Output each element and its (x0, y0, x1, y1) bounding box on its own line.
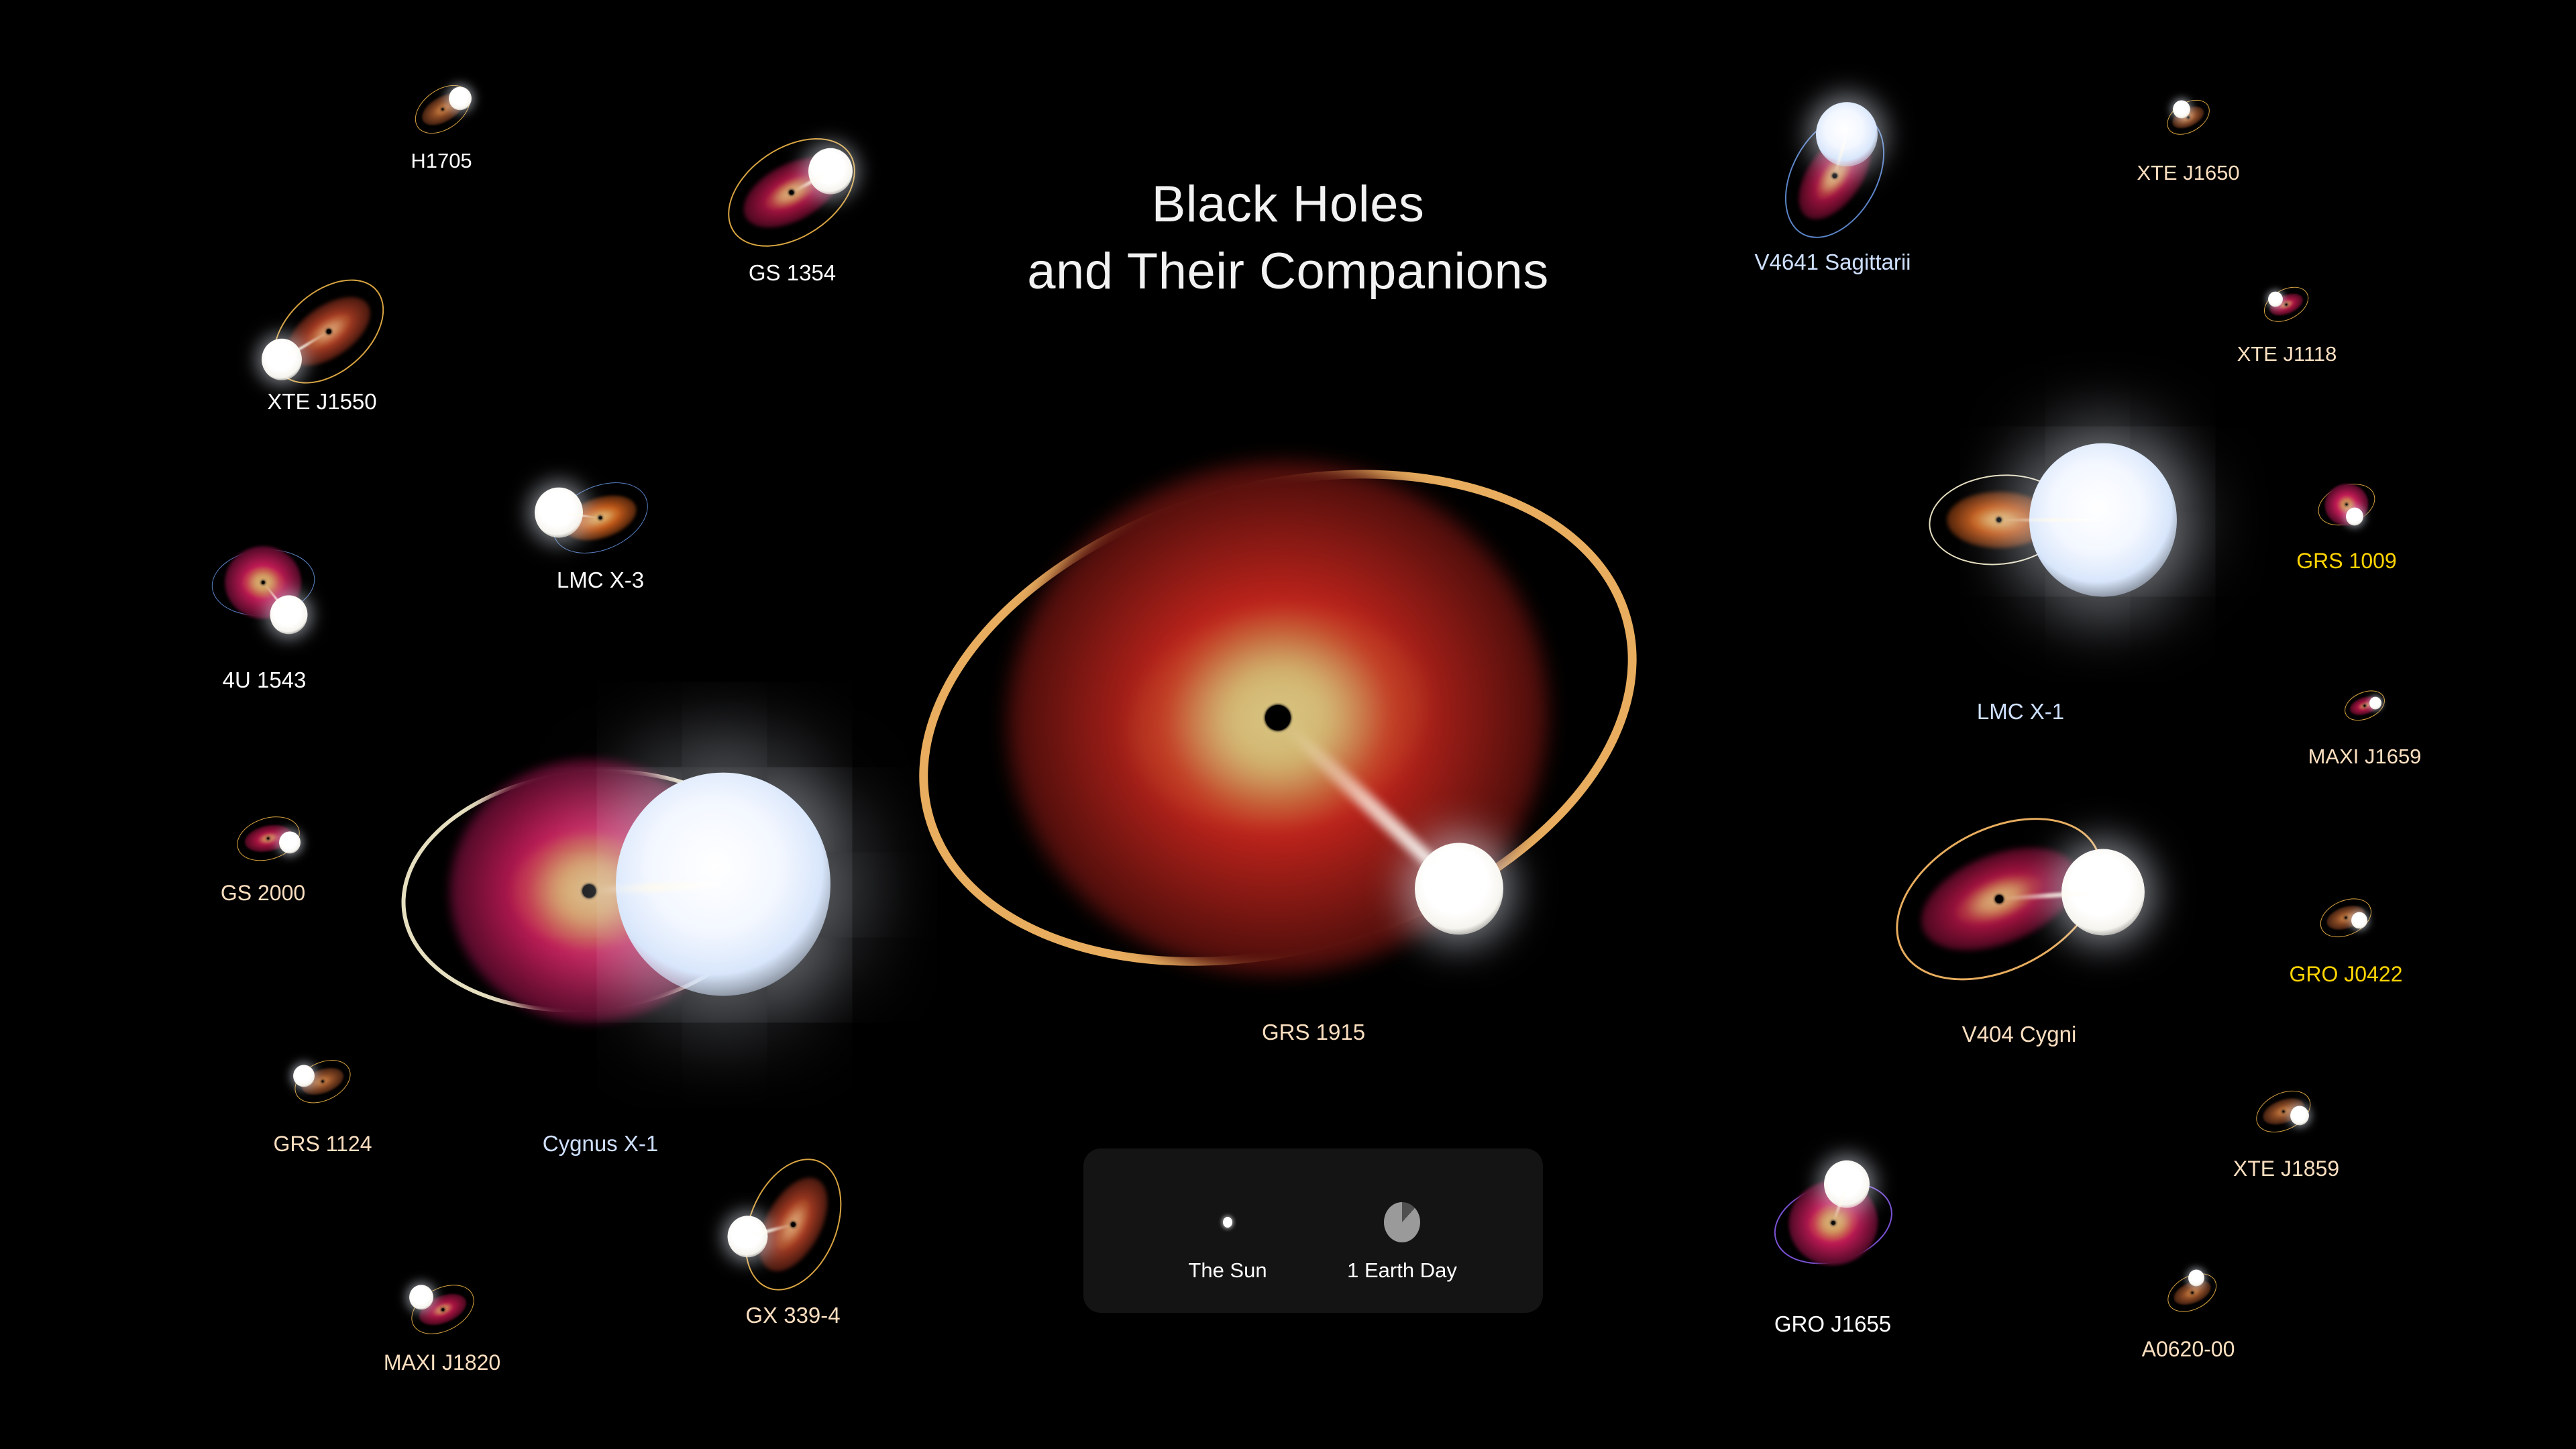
system-cygnus-x-1[interactable] (401, 703, 777, 1079)
system-label-v4641-sagittarii: V4641 Sagittarii (1755, 250, 1911, 275)
system-maxi-j1659[interactable] (2344, 685, 2385, 727)
system-grs-1915[interactable] (912, 352, 1644, 1083)
system-label-gx-339-4: GX 339-4 (745, 1303, 840, 1328)
system-label-xte-j1859: XTE J1859 (2233, 1157, 2339, 1181)
companion-star (2346, 507, 2363, 525)
system-xte-j1859[interactable] (2255, 1083, 2312, 1140)
system-gs-1354[interactable] (721, 122, 862, 263)
system-label-gs-1354: GS 1354 (749, 260, 836, 286)
companion-star (2290, 1106, 2309, 1125)
system-a0620-00[interactable] (2166, 1267, 2218, 1319)
companion-star (2351, 912, 2367, 929)
system-label-a0620-00: A0620-00 (2142, 1337, 2235, 1362)
legend-label-earth-day: 1 Earth Day (1347, 1258, 1457, 1283)
system-label-cygnus-x-1: Cygnus X-1 (543, 1131, 658, 1157)
black-hole (2283, 1111, 2285, 1113)
black-hole-infographic-canvas: Black Holes and Their Companions H1705GS… (0, 0, 2576, 1449)
system-label-xte-j1550: XTE J1550 (267, 389, 376, 415)
black-hole (2364, 705, 2366, 707)
system-label-v404-cygni: V404 Cygni (1962, 1022, 2077, 1047)
legend-item-sun: The Sun (1154, 1148, 1301, 1313)
companion-star (2188, 1270, 2204, 1287)
system-label-gro-j0422: GRO J0422 (2290, 962, 2403, 987)
system-label-gro-j1655: GRO J1655 (1774, 1311, 1891, 1337)
system-label-xte-j1650: XTE J1650 (2137, 161, 2239, 185)
system-v4641-sagittarii[interactable] (1768, 109, 1902, 243)
system-4u-1543[interactable] (211, 531, 315, 635)
black-hole (2286, 304, 2288, 306)
system-label-grs-1009: GRS 1009 (2296, 549, 2396, 574)
system-v404-cygni[interactable] (1888, 788, 2110, 1010)
system-label-grs-1915: GRS 1915 (1262, 1020, 1365, 1045)
companion-star (2268, 292, 2283, 307)
system-grs-1009[interactable] (2317, 475, 2376, 534)
system-lmc-x-1[interactable] (1929, 449, 2070, 590)
sun-dot-icon (1223, 1217, 1232, 1228)
companion-star (2369, 697, 2381, 710)
system-label-maxi-j1659: MAXI J1659 (2308, 745, 2422, 769)
system-gro-j0422[interactable] (2319, 891, 2373, 945)
system-lmc-x-3[interactable] (550, 468, 651, 568)
legend-item-earth-day: 1 Earth Day (1328, 1148, 1476, 1313)
legend-panel: The Sun 1 Earth Day (1083, 1148, 1543, 1313)
black-hole (441, 1308, 444, 1311)
system-gx-339-4[interactable] (724, 1156, 862, 1293)
system-xte-j1550[interactable] (265, 268, 392, 395)
black-hole (2345, 917, 2347, 919)
system-gro-j1655[interactable] (1773, 1163, 1894, 1283)
system-label-maxi-j1820: MAXI J1820 (384, 1350, 500, 1375)
system-label-gs-2000: GS 2000 (221, 881, 305, 906)
black-hole (2192, 1292, 2194, 1294)
system-h1705[interactable] (412, 78, 474, 140)
system-gs-2000[interactable] (236, 806, 301, 871)
system-label-4u-1543: 4U 1543 (223, 667, 307, 693)
system-xte-j1650[interactable] (2165, 95, 2211, 140)
system-grs-1124[interactable] (293, 1052, 352, 1111)
black-hole (2188, 117, 2190, 119)
companion-star (2173, 100, 2190, 118)
legend-label-sun: The Sun (1188, 1258, 1267, 1283)
accretion-stream (1999, 519, 2103, 522)
system-label-xte-j1118: XTE J1118 (2237, 342, 2337, 366)
system-label-grs-1124: GRS 1124 (273, 1132, 372, 1157)
companion-star (449, 87, 472, 110)
system-xte-j1118[interactable] (2263, 281, 2310, 328)
system-label-lmc-x-1: LMC X-1 (1977, 699, 2064, 724)
companion-star (293, 1065, 315, 1087)
companion-star (279, 831, 301, 853)
system-label-h1705: H1705 (411, 149, 472, 173)
clock-pie-icon (1384, 1202, 1420, 1242)
system-label-lmc-x-3: LMC X-3 (557, 568, 644, 593)
system-maxi-j1820[interactable] (409, 1276, 476, 1343)
